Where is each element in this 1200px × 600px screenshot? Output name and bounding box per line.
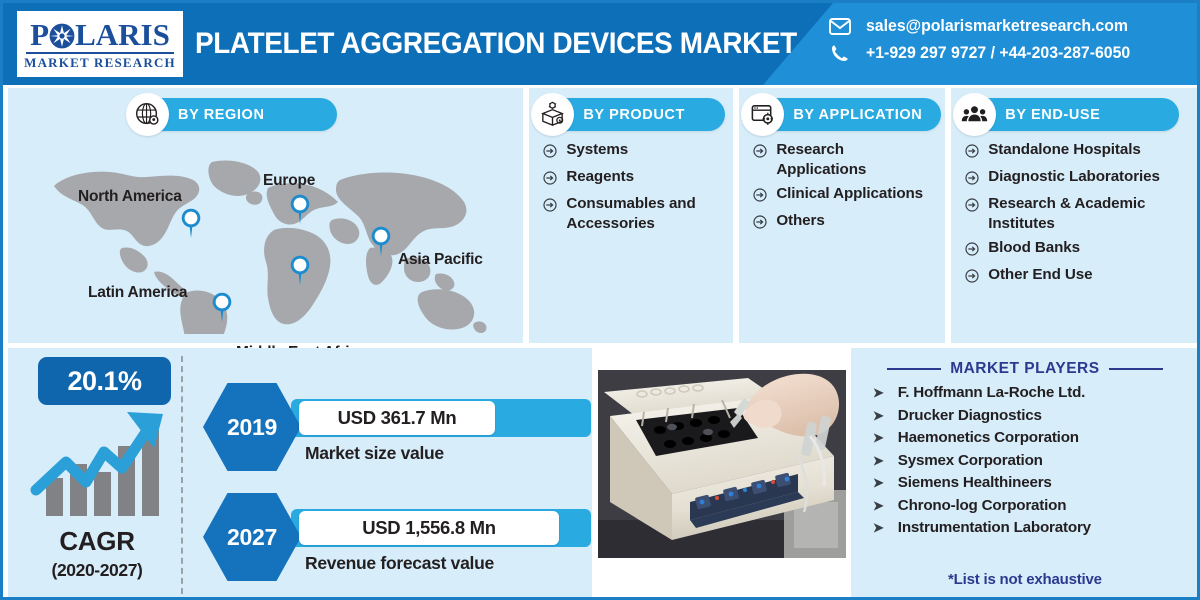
list-item: ➤ Drucker Diagnostics xyxy=(873,407,1091,424)
chevron-right-icon: ➤ xyxy=(873,409,884,422)
map-pin-asia-pacific[interactable] xyxy=(370,226,392,256)
chevron-right-icon: ➤ xyxy=(873,431,884,444)
tab-by-product[interactable]: BY PRODUCT xyxy=(539,98,725,131)
application-item-2: Others xyxy=(776,211,824,231)
end-use-list: Standalone Hospitals Diagnostic Laborato… xyxy=(951,130,1198,288)
star-burst-icon xyxy=(48,21,76,49)
people-group-icon xyxy=(953,93,996,136)
circle-arrow-icon xyxy=(543,144,557,163)
map-label-europe: Europe xyxy=(263,172,315,190)
segmentation-row: BY REGION xyxy=(3,88,1200,343)
list-item: Others xyxy=(753,211,935,234)
logo-letters-laris: LARIS xyxy=(75,19,170,50)
market-players-list: ➤ F. Hoffmann La-Roche Ltd. ➤ Drucker Di… xyxy=(873,384,1091,542)
chevron-right-icon: ➤ xyxy=(873,454,884,467)
list-item: ➤ F. Hoffmann La-Roche Ltd. xyxy=(873,384,1091,401)
circle-arrow-icon xyxy=(965,242,979,261)
end-use-item-3: Blood Banks xyxy=(988,238,1080,258)
value-caption-2027: Revenue forecast value xyxy=(305,553,494,574)
list-item: ➤ Chrono-log Corporation xyxy=(873,497,1091,514)
circle-arrow-icon xyxy=(753,215,767,234)
player-2: Haemonetics Corporation xyxy=(898,429,1079,446)
logo-divider xyxy=(26,52,174,54)
market-players-title: MARKET PLAYERS xyxy=(950,360,1099,378)
panel-by-product: BY PRODUCT Systems Reagents xyxy=(529,88,733,343)
header-rule-left xyxy=(887,368,941,370)
map-label-asia-pacific: Asia Pacific xyxy=(398,251,483,269)
year-label-2019: 2019 xyxy=(227,414,277,441)
map-pin-middle-east-africa[interactable] xyxy=(289,255,311,285)
cagr-badge: 20.1% xyxy=(38,357,171,405)
list-item: Standalone Hospitals xyxy=(965,140,1188,163)
end-use-item-1: Diagnostic Laboratories xyxy=(988,167,1160,187)
metrics-row: 20.1% CAGR (2020-2027) xyxy=(3,348,1200,600)
product-list: Systems Reagents Consumables and Accesso… xyxy=(529,130,733,234)
phone-icon xyxy=(828,43,852,63)
growth-bar-arrow-icon xyxy=(30,406,168,523)
chevron-right-icon: ➤ xyxy=(873,499,884,512)
panel-cagr-and-values: 20.1% CAGR (2020-2027) xyxy=(8,348,592,600)
contact-phone-row[interactable]: +1-929 297 9727 / +44-203-287-6050 xyxy=(828,43,1141,63)
value-caption-2019: Market size value xyxy=(305,443,444,464)
header-rule-right xyxy=(1109,368,1163,370)
list-item: Consumables and Accessories xyxy=(543,194,723,234)
product-item-2: Consumables and Accessories xyxy=(566,194,723,234)
application-item-0: Research Applications xyxy=(776,140,935,180)
list-item: Research & Academic Institutes xyxy=(965,194,1188,234)
phone-text: +1-929 297 9727 / +44-203-287-6050 xyxy=(866,44,1130,63)
map-label-north-america: North America xyxy=(78,188,182,206)
value-amount-2027: USD 1,556.8 Mn xyxy=(362,517,496,539)
value-pill-2019: USD 361.7 Mn xyxy=(299,401,495,435)
list-item: Clinical Applications xyxy=(753,184,935,207)
envelope-icon xyxy=(828,18,852,35)
year-label-2027: 2027 xyxy=(227,524,277,551)
tab-label-application: BY APPLICATION xyxy=(793,107,922,123)
window-gear-icon xyxy=(741,93,784,136)
list-item: Research Applications xyxy=(753,140,935,180)
map-label-latin-america: Latin America xyxy=(88,284,187,302)
aggregometer-photo xyxy=(598,370,846,558)
box-gear-icon xyxy=(531,93,574,136)
panel-photo xyxy=(598,348,845,600)
map-pin-latin-america[interactable] xyxy=(211,292,233,322)
chevron-right-icon: ➤ xyxy=(873,521,884,534)
player-4: Siemens Healthineers xyxy=(898,474,1052,491)
list-item: Blood Banks xyxy=(965,238,1188,261)
vertical-divider xyxy=(181,356,183,594)
value-amount-2019: USD 361.7 Mn xyxy=(338,407,457,429)
product-item-0: Systems xyxy=(566,140,628,160)
list-item: Reagents xyxy=(543,167,723,190)
tab-label-end-use: BY END-USE xyxy=(1005,107,1100,123)
market-players-note: *List is not exhaustive xyxy=(851,571,1199,588)
market-players-header: MARKET PLAYERS xyxy=(851,360,1199,378)
infographic-root: P LARIS MARKET RESEARCH PLATELET AGGREGA… xyxy=(0,0,1200,600)
value-pill-2027: USD 1,556.8 Mn xyxy=(299,511,559,545)
panel-by-region: BY REGION xyxy=(8,88,523,343)
list-item: Diagnostic Laboratories xyxy=(965,167,1188,190)
logo-tagline: MARKET RESEARCH xyxy=(24,56,176,69)
circle-arrow-icon xyxy=(965,171,979,190)
player-6: Instrumentation Laboratory xyxy=(898,519,1091,536)
application-list: Research Applications Clinical Applicati… xyxy=(739,130,945,234)
email-text: sales@polarismarketresearch.com xyxy=(866,17,1128,36)
chevron-right-icon: ➤ xyxy=(873,476,884,489)
map-pin-north-america[interactable] xyxy=(180,208,202,238)
circle-arrow-icon xyxy=(753,144,767,163)
contact-info: sales@polarismarketresearch.com +1-929 2… xyxy=(828,17,1141,63)
list-item: Other End Use xyxy=(965,265,1188,288)
player-5: Chrono-log Corporation xyxy=(898,497,1067,514)
circle-arrow-icon xyxy=(753,188,767,207)
player-3: Sysmex Corporation xyxy=(898,452,1043,469)
tab-by-application[interactable]: BY APPLICATION xyxy=(749,98,941,131)
application-item-1: Clinical Applications xyxy=(776,184,923,204)
product-item-1: Reagents xyxy=(566,167,634,187)
panel-by-end-use: BY END-USE Standalone Hospitals Diagnost… xyxy=(951,88,1198,343)
page-title: PLATELET AGGREGATION DEVICES MARKET xyxy=(195,3,797,85)
header-bar: P LARIS MARKET RESEARCH PLATELET AGGREGA… xyxy=(3,3,1200,85)
logo-wordmark: P LARIS xyxy=(30,19,170,50)
logo-letter-p: P xyxy=(30,19,49,50)
circle-arrow-icon xyxy=(543,198,557,217)
tab-label-region: BY REGION xyxy=(178,107,265,123)
cagr-period: (2020-2027) xyxy=(8,560,186,581)
tab-label-product: BY PRODUCT xyxy=(583,107,685,123)
tab-by-end-use[interactable]: BY END-USE xyxy=(961,98,1179,131)
player-1: Drucker Diagnostics xyxy=(898,407,1042,424)
panel-by-application: BY APPLICATION Research Applications Cli… xyxy=(739,88,945,343)
contact-email-row[interactable]: sales@polarismarketresearch.com xyxy=(828,17,1141,36)
chevron-right-icon: ➤ xyxy=(873,386,884,399)
end-use-item-2: Research & Academic Institutes xyxy=(988,194,1188,234)
circle-arrow-icon xyxy=(965,198,979,217)
list-item: ➤ Instrumentation Laboratory xyxy=(873,519,1091,536)
cagr-label: CAGR xyxy=(8,526,186,557)
circle-arrow-icon xyxy=(543,171,557,190)
list-item: ➤ Haemonetics Corporation xyxy=(873,429,1091,446)
world-map: North America Europe Asia Pacific Latin … xyxy=(8,126,526,341)
year-hexagon-2027: 2027 xyxy=(203,493,301,581)
end-use-item-0: Standalone Hospitals xyxy=(988,140,1140,160)
polaris-logo: P LARIS MARKET RESEARCH xyxy=(17,11,183,77)
list-item: Systems xyxy=(543,140,723,163)
map-pin-europe[interactable] xyxy=(289,194,311,224)
list-item: ➤ Siemens Healthineers xyxy=(873,474,1091,491)
year-hexagon-2019: 2019 xyxy=(203,383,301,471)
circle-arrow-icon xyxy=(965,269,979,288)
end-use-item-4: Other End Use xyxy=(988,265,1092,285)
panel-market-players: MARKET PLAYERS ➤ F. Hoffmann La-Roche Lt… xyxy=(851,348,1198,600)
list-item: ➤ Sysmex Corporation xyxy=(873,452,1091,469)
circle-arrow-icon xyxy=(965,144,979,163)
player-0: F. Hoffmann La-Roche Ltd. xyxy=(898,384,1085,401)
